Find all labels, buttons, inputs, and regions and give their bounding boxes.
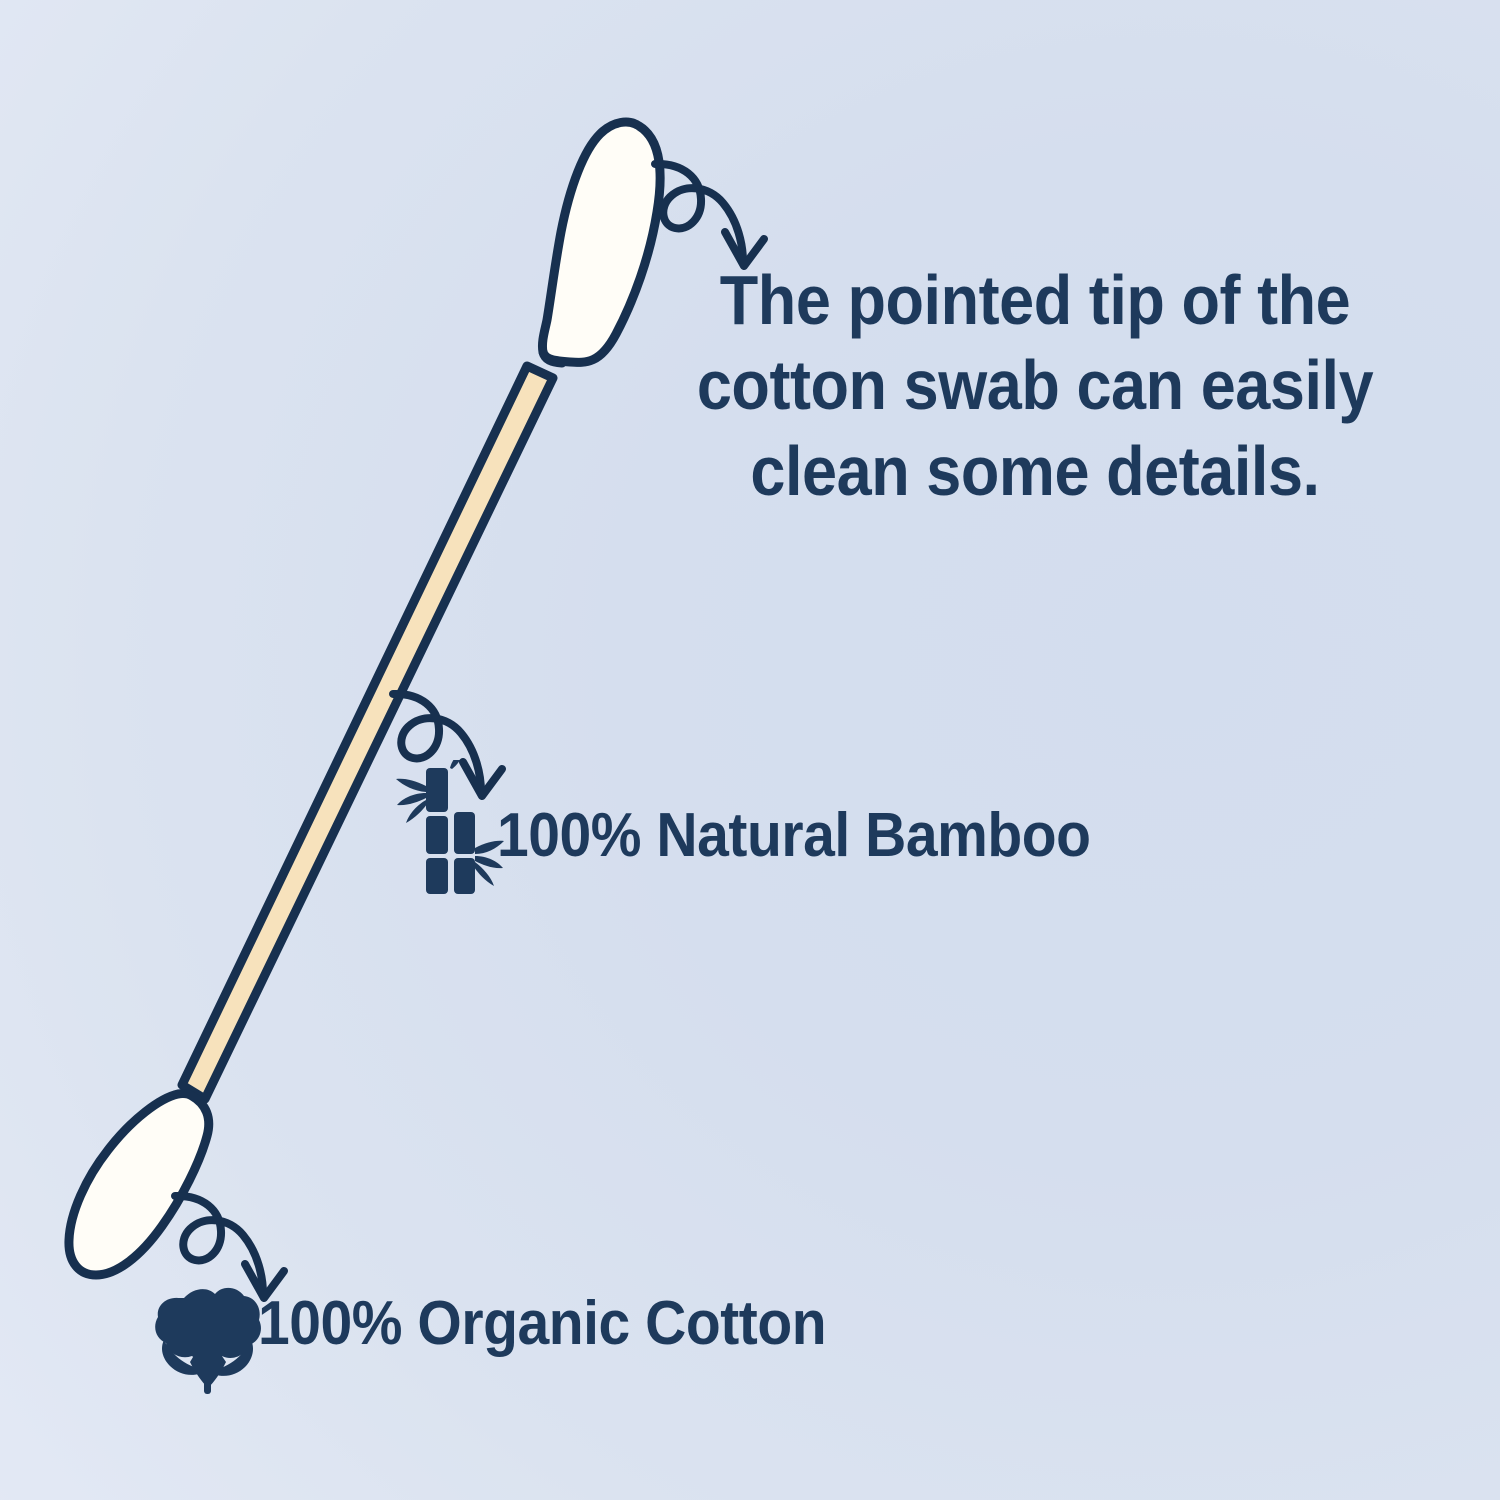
headline-line-2: cotton swab can easily [693, 343, 1377, 428]
rounded-cotton-bud [69, 1094, 209, 1275]
headline-line-1: The pointed tip of the [693, 258, 1377, 343]
cotton-boll-icon [152, 1282, 262, 1394]
headline-line-3: clean some details. [693, 429, 1377, 514]
cotton-feature-label: 100% Organic Cotton [258, 1293, 826, 1355]
infographic-canvas: The pointed tip of the cotton swab can e… [0, 0, 1500, 1500]
pointed-cotton-tip [542, 122, 660, 363]
swab-illustration [0, 0, 1500, 1500]
page-title: The pointed tip of the cotton swab can e… [693, 258, 1377, 514]
curly-arrow-to-headline [655, 164, 764, 266]
bamboo-feature-label: 100% Natural Bamboo [497, 805, 1091, 867]
bamboo-stalk-icon [396, 760, 504, 895]
bamboo-stick-shaft [182, 366, 553, 1099]
